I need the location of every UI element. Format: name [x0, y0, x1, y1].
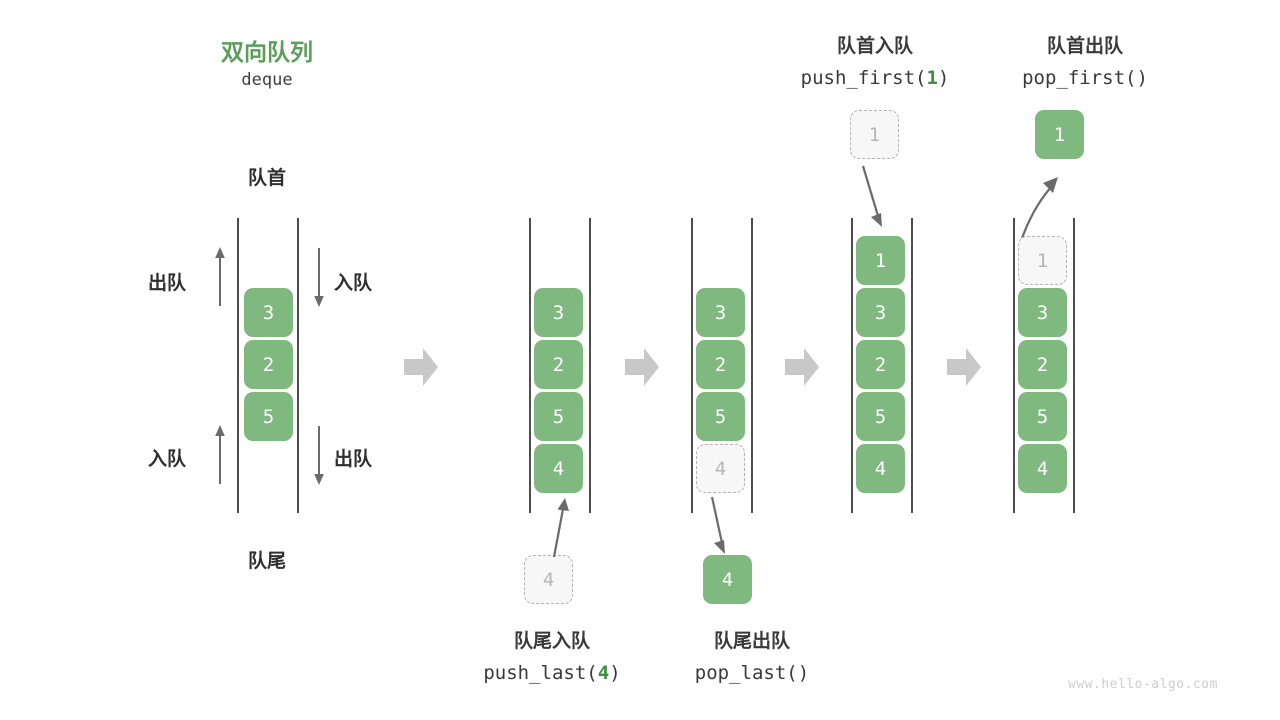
pop-first-code-prefix: pop_first(	[1022, 67, 1136, 89]
deque-cell: 5	[856, 392, 905, 441]
deque-cell: 3	[1018, 288, 1067, 337]
removed-head-ghost-cell: 1	[1018, 236, 1067, 285]
deque-stack-panel4: 1 3 2 5 4	[856, 236, 905, 493]
pop-last-code-prefix: pop_last(	[695, 662, 798, 684]
deque-cell: 2	[244, 340, 293, 389]
watermark: www.hello-algo.com	[1068, 677, 1218, 692]
flow-arrow-icon	[785, 348, 819, 386]
deque-stack-panel1: 3 2 5	[244, 288, 293, 441]
rail-right-panel2	[589, 218, 591, 513]
deque-cell: 2	[856, 340, 905, 389]
pop-last-code-suffix: )	[798, 662, 809, 684]
rail-left-panel1	[237, 218, 239, 513]
pop-last-caption-cn: 队尾出队	[652, 626, 852, 653]
pop-first-arrow-icon	[1010, 164, 1064, 246]
deque-cell: 5	[244, 392, 293, 441]
deque-cell: 5	[534, 392, 583, 441]
deque-cell: 2	[534, 340, 583, 389]
rear-dequeue-arrow-icon	[311, 424, 327, 486]
pop-last-arrow-icon	[700, 495, 740, 559]
deque-cell-new: 4	[534, 444, 583, 493]
deque-stack-panel5: 1 3 2 5 4	[1018, 236, 1067, 493]
push-last-code-suffix: )	[609, 662, 620, 684]
incoming-ghost-cell: 4	[524, 555, 573, 604]
front-enqueue-label: 入队	[334, 268, 372, 295]
deque-cell: 5	[1018, 392, 1067, 441]
deque-cell: 5	[696, 392, 745, 441]
rail-right-panel4	[911, 218, 913, 513]
front-label: 队首	[217, 163, 317, 190]
rail-left-panel4	[851, 218, 853, 513]
push-first-caption-cn: 队首入队	[775, 31, 975, 58]
push-last-caption-cn: 队尾入队	[452, 626, 652, 653]
deque-cell: 3	[856, 288, 905, 337]
flow-arrow-icon	[625, 348, 659, 386]
deque-stack-panel3: 3 2 5 4	[696, 288, 745, 493]
pop-first-code-suffix: )	[1136, 67, 1147, 89]
incoming-head-ghost-cell: 1	[850, 110, 899, 159]
rear-label: 队尾	[217, 546, 317, 573]
rail-left-panel2	[529, 218, 531, 513]
deque-stack-panel2: 3 2 5 4	[534, 288, 583, 493]
deque-cell: 2	[1018, 340, 1067, 389]
front-enqueue-arrow-icon	[311, 246, 327, 308]
push-first-code-arg: 1	[926, 67, 937, 89]
rail-right-panel3	[751, 218, 753, 513]
push-first-caption-code: push_first(1)	[775, 67, 975, 89]
outgoing-head-cell: 1	[1035, 110, 1084, 159]
front-dequeue-arrow-icon	[212, 246, 228, 308]
deque-cell: 3	[244, 288, 293, 337]
deque-cell: 4	[856, 444, 905, 493]
push-last-arrow-icon	[540, 495, 574, 559]
deque-cell: 3	[534, 288, 583, 337]
deque-cell: 3	[696, 288, 745, 337]
rail-left-panel3	[691, 218, 693, 513]
push-first-arrow-icon	[855, 164, 895, 230]
pop-first-caption-code: pop_first()	[985, 67, 1185, 89]
removed-ghost-cell: 4	[696, 444, 745, 493]
diagram-canvas: 双向队列 deque 队首 队尾 3 2 5 出队 入队 入队 出队 3 2 5	[0, 0, 1280, 720]
push-last-caption-code: push_last(4)	[452, 662, 652, 684]
push-first-code-prefix: push_first(	[801, 67, 927, 89]
flow-arrow-icon	[947, 348, 981, 386]
deque-cell: 4	[1018, 444, 1067, 493]
deque-cell-new: 1	[856, 236, 905, 285]
flow-arrow-icon	[404, 348, 438, 386]
rear-dequeue-label: 出队	[334, 444, 372, 471]
front-dequeue-label: 出队	[148, 268, 186, 295]
page-subtitle: deque	[167, 70, 367, 90]
rail-left-panel5	[1013, 218, 1015, 513]
rail-right-panel5	[1073, 218, 1075, 513]
rear-enqueue-arrow-icon	[212, 424, 228, 486]
rear-enqueue-label: 入队	[148, 444, 186, 471]
rail-right-panel1	[297, 218, 299, 513]
pop-last-caption-code: pop_last()	[652, 662, 852, 684]
outgoing-cell: 4	[703, 555, 752, 604]
page-title: 双向队列	[167, 33, 367, 67]
push-first-code-suffix: )	[938, 67, 949, 89]
deque-cell: 2	[696, 340, 745, 389]
push-last-code-prefix: push_last(	[483, 662, 597, 684]
push-last-code-arg: 4	[598, 662, 609, 684]
pop-first-caption-cn: 队首出队	[985, 31, 1185, 58]
